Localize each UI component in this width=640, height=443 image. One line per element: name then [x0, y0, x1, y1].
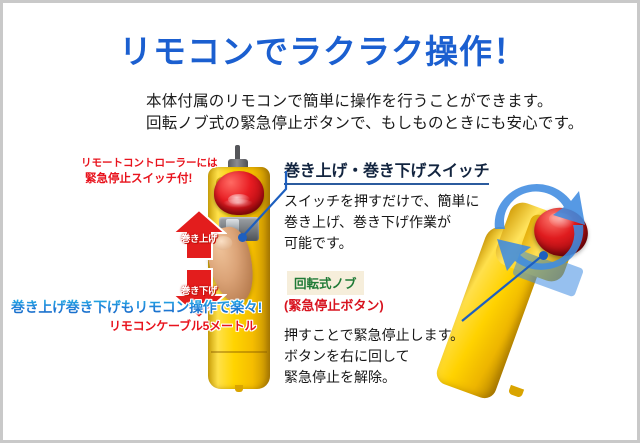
knob-section-body: 押すことで緊急停止します。 ボタンを右に回して 緊急停止を解除。 [284, 325, 464, 388]
left-callout-line-1: リモートコントローラーには [81, 155, 218, 171]
remote-cap-seam [211, 351, 267, 353]
remote-right-tip [508, 385, 524, 398]
switch-body-line-1: スイッチを押すだけで、簡単に [284, 191, 479, 212]
knob-body-line-2: ボタンを右に回して [284, 346, 464, 367]
promo-page: リモコンでラクラク操作！ 本体付属のリモコンで簡単に操作を行うことができます。 … [0, 0, 640, 443]
wind-up-arrow-label: 巻き上げ [171, 231, 227, 245]
pointer-dot-left [238, 233, 247, 242]
remote-foot [235, 385, 243, 392]
wind-down-arrow-label: 巻き下げ [171, 283, 227, 297]
bottom-left-blue-text: 巻き上げ巻き下げもリモコン操作で楽々! [11, 297, 262, 317]
wind-up-arrow: 巻き上げ [171, 209, 227, 266]
page-subtitle: 本体付属のリモコンで簡単に操作を行うことができます。 回転ノブ式の緊急停止ボタン… [146, 91, 583, 135]
knob-section-tag: 回転式ノブ [287, 271, 364, 295]
left-callout: リモートコントローラーには 緊急停止スイッチ付! [81, 155, 218, 187]
switch-body-line-3: 可能です。 [284, 233, 479, 254]
switch-section-heading: 巻き上げ・巻き下げスイッチ [284, 157, 489, 185]
knob-body-line-1: 押すことで緊急停止します。 [284, 325, 464, 346]
emergency-stop-highlight [228, 194, 250, 205]
subtitle-line-1: 本体付属のリモコンで簡単に操作を行うことができます。 [146, 91, 583, 113]
knob-body-line-3: 緊急停止を解除。 [284, 367, 464, 388]
switch-section-body: スイッチを押すだけで、簡単に 巻き上げ、巻き下げ作業が 可能です。 [284, 191, 479, 254]
bottom-left-red-text: リモコンケーブル5メートル [109, 317, 256, 334]
page-title: リモコンでラクラク操作！ [3, 25, 640, 73]
pointer-dot-right [539, 251, 548, 260]
left-callout-line-2: 緊急停止スイッチ付! [81, 171, 218, 187]
knob-section-subtitle: (緊急停止ボタン) [284, 295, 384, 314]
subtitle-line-2: 回転ノブ式の緊急停止ボタンで、もしものときにも安心です。 [146, 113, 583, 135]
switch-body-line-2: 巻き上げ、巻き下げ作業が [284, 212, 479, 233]
